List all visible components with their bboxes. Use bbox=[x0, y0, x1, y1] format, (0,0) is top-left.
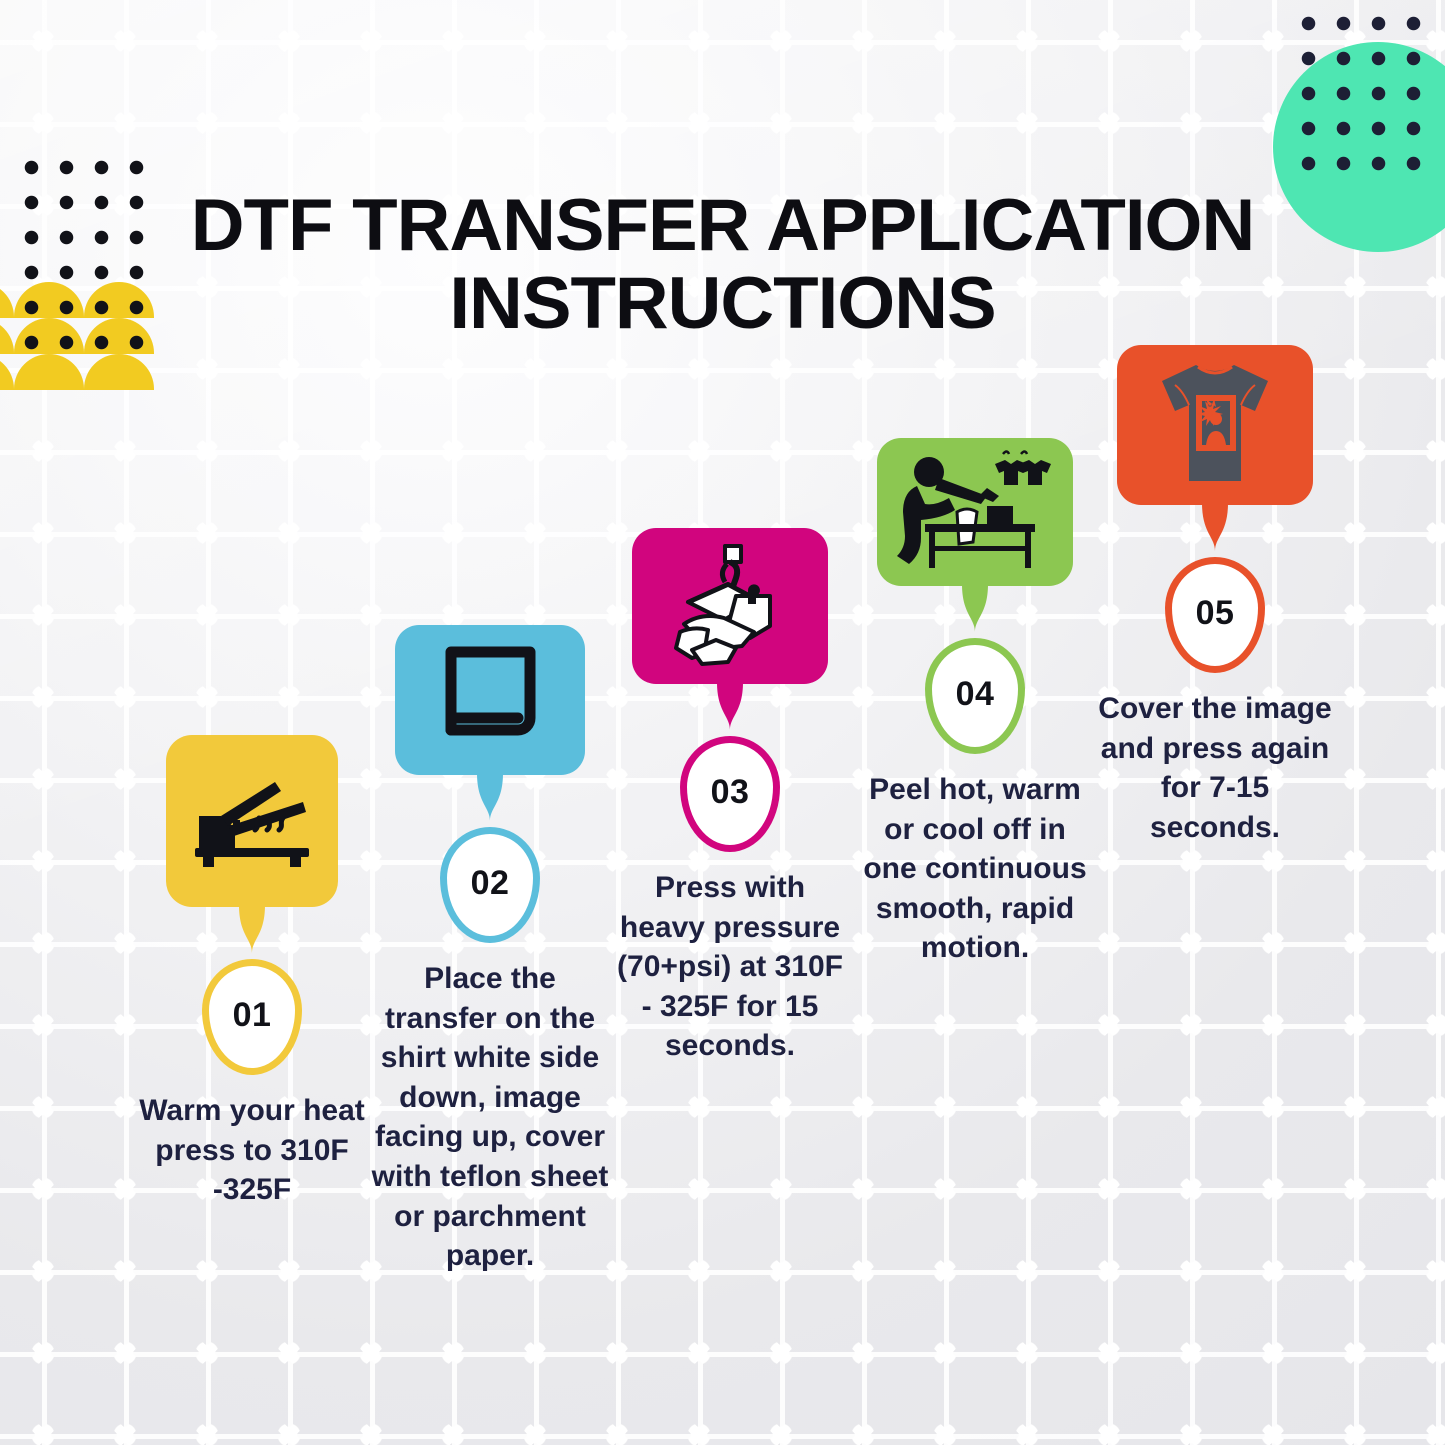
dot-grid-top-right-decoration bbox=[1291, 6, 1431, 184]
page-title: DTF TRANSFER APPLICATION INSTRUCTIONS bbox=[0, 187, 1445, 343]
step-01-description: Warm your heat press to 310F -325F bbox=[127, 1091, 377, 1210]
person-peeling-transfer-icon bbox=[895, 446, 1055, 579]
step-01-number-badge: 01 bbox=[202, 959, 302, 1075]
printed-tshirt-icon bbox=[1140, 357, 1290, 494]
heat-press-machine-icon bbox=[670, 540, 790, 673]
step-03-card bbox=[632, 528, 828, 684]
step-02-description: Place the transfer on the shirt white si… bbox=[365, 959, 615, 1276]
step-02-card bbox=[395, 625, 585, 775]
step-04-number: 04 bbox=[956, 675, 995, 714]
step-03[interactable]: 03 Press with heavy pressure (70+psi) at… bbox=[605, 528, 855, 1066]
step-05-description: Cover the image and press again for 7-15… bbox=[1090, 689, 1340, 847]
step-04[interactable]: 04 Peel hot, warm or cool off in one con… bbox=[850, 438, 1100, 968]
step-03-description: Press with heavy pressure (70+psi) at 31… bbox=[605, 868, 855, 1066]
step-02[interactable]: 02 Place the transfer on the shirt white… bbox=[365, 625, 615, 1276]
step-02-number-badge: 02 bbox=[440, 827, 540, 943]
step-05-number-badge: 05 bbox=[1165, 557, 1265, 673]
step-04-description: Peel hot, warm or cool off in one contin… bbox=[850, 770, 1100, 968]
step-05-number: 05 bbox=[1196, 594, 1235, 633]
step-01[interactable]: 01 Warm your heat press to 310F -325F bbox=[127, 735, 377, 1210]
transfer-sheet-icon bbox=[433, 640, 548, 760]
step-04-card bbox=[877, 438, 1073, 586]
step-01-card bbox=[166, 735, 338, 907]
step-04-number-badge: 04 bbox=[925, 638, 1025, 754]
step-01-number: 01 bbox=[233, 996, 272, 1035]
step-02-number: 02 bbox=[471, 864, 510, 903]
poster-canvas: DTF TRANSFER APPLICATION INSTRUCTIONS bbox=[0, 0, 1445, 1445]
step-03-number-badge: 03 bbox=[680, 736, 780, 852]
step-05[interactable]: 05 Cover the image and press again for 7… bbox=[1090, 345, 1340, 847]
heat-press-open-icon bbox=[187, 764, 317, 879]
title-line-1: DTF TRANSFER APPLICATION bbox=[0, 187, 1445, 265]
step-03-number: 03 bbox=[711, 773, 750, 812]
title-line-2: INSTRUCTIONS bbox=[0, 265, 1445, 343]
step-05-card bbox=[1117, 345, 1313, 505]
